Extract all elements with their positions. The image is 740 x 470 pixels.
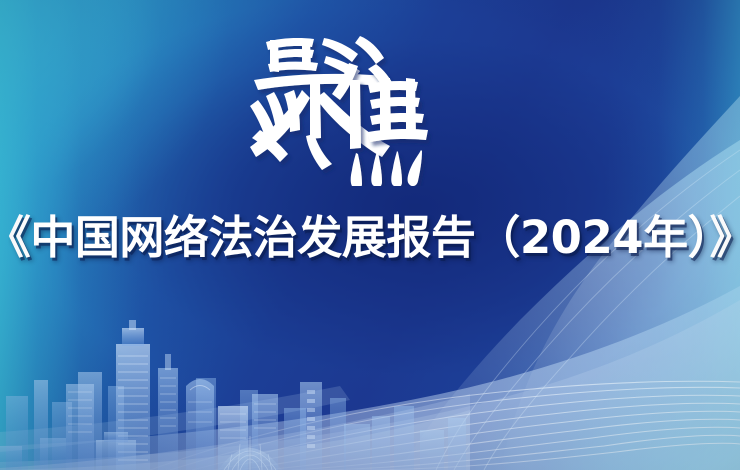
report-title-row: 《中国网络法治发展报告（2024年）》 [0, 202, 740, 272]
poster-canvas: 《中国网络法治发展报告（2024年）》 [0, 0, 740, 470]
report-title: 《中国网络法治发展报告（2024年）》 [0, 215, 740, 260]
city-skyline-silhouette [0, 320, 470, 470]
